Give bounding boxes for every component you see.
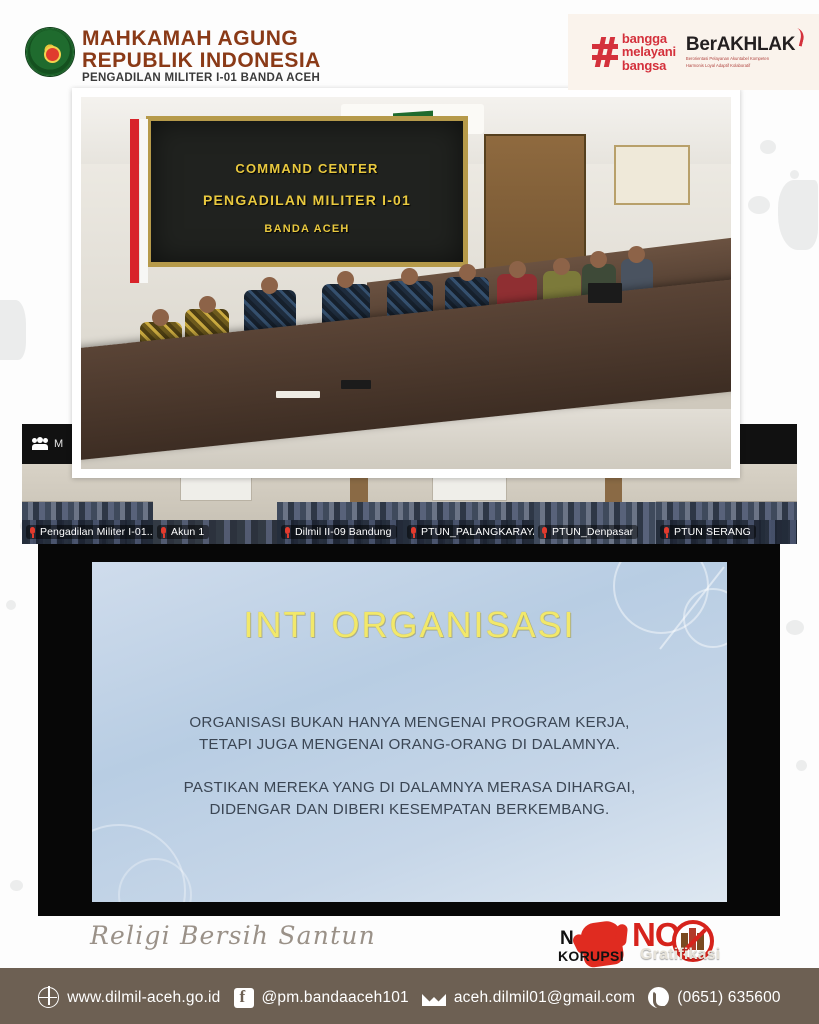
participant-name: Dilmil II-09 Bandung xyxy=(295,526,392,538)
mic-muted-icon xyxy=(410,527,417,538)
thumbnail-label-wrap: PTUN SERANG xyxy=(660,525,756,539)
no-gratifikasi-word: Gratifikasi xyxy=(640,946,720,964)
berakhlak-subtitle: Berorientasi Pelayanan Akuntabel Kompete… xyxy=(686,56,774,69)
email-text: aceh.dilmil01@gmail.com xyxy=(454,989,635,1007)
mic-muted-icon xyxy=(284,527,291,538)
banner-line-3: BANDA ACEH xyxy=(151,223,463,235)
presentation-slide: INTI ORGANISASI ORGANISASI BUKAN HANYA M… xyxy=(92,562,727,902)
banner-line-2: PENGADILAN MILITER I-01 xyxy=(151,192,463,208)
bangga-line-3: bangsa xyxy=(622,59,676,72)
poster-header: MAHKAMAH AGUNG REPUBLIK INDONESIA PENGAD… xyxy=(0,0,819,100)
slide-paragraph2-line1: PASTIKAN MEREKA YANG DI DALAMNYA MERASA … xyxy=(132,777,687,799)
slide-paragraph2-line2: DIDENGAR DAN DIBERI KESEMPATAN BERKEMBAN… xyxy=(132,799,687,821)
thumbnail-label-wrap: Pengadilan Militer I-01... xyxy=(26,525,153,539)
institution-line-2: REPUBLIK INDONESIA xyxy=(82,50,321,71)
poster-canvas: MAHKAMAH AGUNG REPUBLIK INDONESIA PENGAD… xyxy=(0,0,819,1024)
mic-muted-icon xyxy=(29,527,36,538)
berakhlak-wordmark: BerAKHLAK Berorientasi Pelayanan Akuntab… xyxy=(686,35,795,69)
thumbnail-label-wrap: Dilmil II-09 Bandung xyxy=(281,525,397,539)
hashtag-icon xyxy=(592,37,618,67)
slide-body: ORGANISASI BUKAN HANYA MENGENAI PROGRAM … xyxy=(132,712,687,820)
slide-paragraph1-line2: TETAPI JUGA MENGENAI ORANG-ORANG DI DALA… xyxy=(132,734,687,756)
slide-title: INTI ORGANISASI xyxy=(92,604,727,646)
mahkamah-agung-seal-icon xyxy=(26,28,74,76)
mail-icon xyxy=(422,989,446,1006)
tagline: Religi Bersih Santun xyxy=(90,921,376,950)
participants-button[interactable]: M xyxy=(22,424,73,464)
phone-text: (0651) 635600 xyxy=(677,989,780,1007)
event-photo: COMMAND CENTER PENGADILAN MILITER I-01 B… xyxy=(72,88,740,478)
slide-paragraph1-line1: ORGANISASI BUKAN HANYA MENGENAI PROGRAM … xyxy=(132,712,687,734)
mic-muted-icon xyxy=(160,527,167,538)
facebook-icon xyxy=(234,988,254,1008)
no-korupsi-n: N xyxy=(560,928,574,950)
website-text: www.dilmil-aceh.go.id xyxy=(67,989,220,1007)
participants-icon xyxy=(32,438,48,450)
participant-name: PTUN_PALANGKARAYA xyxy=(421,526,534,538)
footer-phone[interactable]: (0651) 635600 xyxy=(648,987,780,1008)
thumbnail-label-wrap: Akun 1 xyxy=(157,525,209,539)
command-center-banner: COMMAND CENTER PENGADILAN MILITER I-01 B… xyxy=(146,116,468,267)
thumbnail-label-wrap: PTUN_PALANGKARAYA xyxy=(407,525,534,539)
event-photo-scene: COMMAND CENTER PENGADILAN MILITER I-01 B… xyxy=(81,97,731,469)
participant-name: PTUN SERANG xyxy=(674,526,751,538)
participant-name: Akun 1 xyxy=(171,526,204,538)
berakhlak-logo-block: bangga melayani bangsa BerAKHLAK Berorie… xyxy=(568,14,819,90)
no-gratifikasi-badge: NO Gratifikasi xyxy=(632,916,724,972)
institution-identity: MAHKAMAH AGUNG REPUBLIK INDONESIA PENGAD… xyxy=(26,28,321,85)
bangga-line-1: bangga xyxy=(622,32,676,45)
mic-muted-icon xyxy=(541,527,548,538)
participants-label: M xyxy=(54,438,63,450)
globe-icon xyxy=(38,987,59,1008)
participant-name: Pengadilan Militer I-01... xyxy=(40,526,153,538)
facebook-text: @pm.bandaaceh101 xyxy=(262,989,409,1007)
berakhlak-title: BerAKHLAK xyxy=(686,35,795,54)
mic-muted-icon xyxy=(663,527,670,538)
footer-website[interactable]: www.dilmil-aceh.go.id xyxy=(38,987,220,1008)
no-korupsi-word: KORUPSI xyxy=(558,948,624,964)
bangga-line-2: melayani xyxy=(622,45,676,58)
thumbnail-label-wrap: PTUN_Denpasar xyxy=(538,525,638,539)
institution-line-1: MAHKAMAH AGUNG xyxy=(82,28,321,49)
screen-share-stage: INTI ORGANISASI ORGANISASI BUKAN HANYA M… xyxy=(38,544,780,916)
contact-footer: www.dilmil-aceh.go.id @pm.bandaaceh101 a… xyxy=(0,971,819,1024)
institution-line-3: PENGADILAN MILITER I-01 BANDA ACEH xyxy=(82,73,321,85)
bangga-melayani-bangsa-logo: bangga melayani bangsa xyxy=(592,32,676,72)
phone-icon xyxy=(648,987,669,1008)
footer-facebook[interactable]: @pm.bandaaceh101 xyxy=(234,988,409,1008)
footer-email[interactable]: aceh.dilmil01@gmail.com xyxy=(422,989,635,1007)
banner-line-1: COMMAND CENTER xyxy=(151,161,463,176)
participant-name: PTUN_Denpasar xyxy=(552,526,633,538)
